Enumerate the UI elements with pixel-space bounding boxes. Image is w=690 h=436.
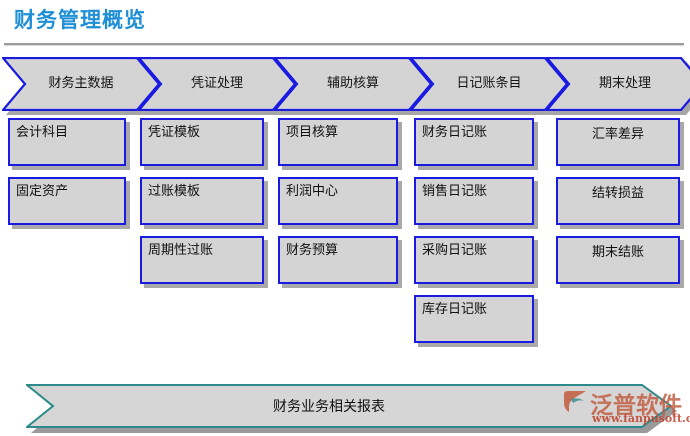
module-box[interactable]: 周期性过账	[140, 236, 264, 284]
module-box-wrap: 项目核算	[278, 118, 398, 166]
module-box[interactable]: 销售日记账	[414, 177, 534, 225]
title-divider	[4, 43, 684, 46]
module-box-wrap: 汇率差异	[556, 118, 680, 166]
module-box[interactable]: 采购日记账	[414, 236, 534, 284]
module-box-wrap: 销售日记账	[414, 177, 534, 225]
stage-chevron-label: 期末处理	[570, 57, 680, 111]
page-title: 财务管理概览	[14, 4, 146, 34]
stage-chevron-3[interactable]: 辅助核算	[274, 57, 432, 111]
module-box-wrap: 财务日记账	[414, 118, 534, 166]
module-column-4: 财务日记账销售日记账采购日记账库存日记账	[414, 118, 534, 354]
module-column-3: 项目核算利润中心财务预算	[278, 118, 398, 295]
reports-banner[interactable]: 财务业务相关报表	[26, 384, 672, 428]
module-box[interactable]: 结转损益	[556, 177, 680, 225]
module-box[interactable]: 库存日记账	[414, 295, 534, 343]
module-box[interactable]: 固定资产	[8, 177, 126, 225]
financial-overview-diagram: 财务管理概览 财务主数据凭证处理辅助核算日记账条目期末处理 会计科目固定资产凭证…	[0, 0, 690, 436]
module-box-wrap: 财务预算	[278, 236, 398, 284]
module-box-wrap: 库存日记账	[414, 295, 534, 343]
module-box[interactable]: 项目核算	[278, 118, 398, 166]
module-column-5: 汇率差异结转损益期末结账	[556, 118, 680, 295]
stage-chevron-4[interactable]: 日记账条目	[410, 57, 568, 111]
module-box-wrap: 固定资产	[8, 177, 126, 225]
stage-chevron-label: 财务主数据	[26, 57, 136, 111]
module-box[interactable]: 财务日记账	[414, 118, 534, 166]
module-box[interactable]: 过账模板	[140, 177, 264, 225]
module-box-wrap: 结转损益	[556, 177, 680, 225]
module-box-wrap: 过账模板	[140, 177, 264, 225]
module-box-wrap: 利润中心	[278, 177, 398, 225]
stage-chevron-label: 日记账条目	[434, 57, 544, 111]
module-box-wrap: 周期性过账	[140, 236, 264, 284]
module-box[interactable]: 利润中心	[278, 177, 398, 225]
stage-chevron-row: 财务主数据凭证处理辅助核算日记账条目期末处理	[0, 57, 690, 115]
module-columns: 会计科目固定资产凭证模板过账模板周期性过账项目核算利润中心财务预算财务日记账销售…	[0, 118, 690, 368]
reports-banner-label: 财务业务相关报表	[26, 384, 672, 428]
module-box-wrap: 凭证模板	[140, 118, 264, 166]
module-box[interactable]: 汇率差异	[556, 118, 680, 166]
stage-chevron-1[interactable]: 财务主数据	[2, 57, 160, 111]
stage-chevron-label: 辅助核算	[298, 57, 408, 111]
module-column-2: 凭证模板过账模板周期性过账	[140, 118, 264, 295]
module-box[interactable]: 期末结账	[556, 236, 680, 284]
module-box[interactable]: 会计科目	[8, 118, 126, 166]
stage-chevron-2[interactable]: 凭证处理	[138, 57, 296, 111]
module-box[interactable]: 财务预算	[278, 236, 398, 284]
module-column-1: 会计科目固定资产	[8, 118, 126, 236]
stage-chevron-5[interactable]: 期末处理	[546, 57, 690, 111]
module-box-wrap: 会计科目	[8, 118, 126, 166]
module-box[interactable]: 凭证模板	[140, 118, 264, 166]
stage-chevron-label: 凭证处理	[162, 57, 272, 111]
module-box-wrap: 采购日记账	[414, 236, 534, 284]
module-box-wrap: 期末结账	[556, 236, 680, 284]
